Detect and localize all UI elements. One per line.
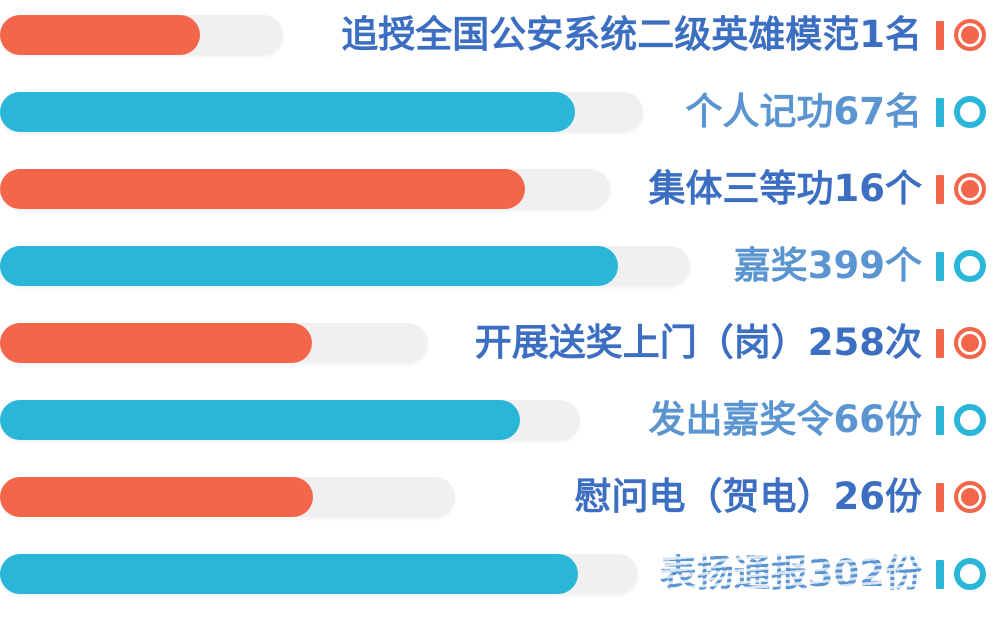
progress-row: 嘉奖399个	[0, 235, 1000, 297]
progress-fill	[0, 400, 520, 440]
progress-row: 慰问电（贺电）26份	[0, 466, 1000, 528]
progress-row: 个人记功67名	[0, 81, 1000, 143]
row-marker	[930, 400, 994, 440]
progress-fill	[0, 554, 578, 594]
hollow-ring-marker-icon	[954, 96, 986, 128]
progress-row-label: 开展送奖上门（岗）258次	[475, 312, 922, 374]
progress-fill	[0, 246, 618, 286]
vertical-bar-icon	[936, 21, 944, 50]
filled-ring-marker-icon	[954, 327, 986, 359]
progress-fill	[0, 323, 312, 363]
progress-row-label: 慰问电（贺电）26份	[575, 466, 923, 528]
progress-row: 追授全国公安系统二级英雄模范1名	[0, 4, 1000, 66]
row-marker	[930, 554, 994, 594]
vertical-bar-icon	[936, 406, 944, 435]
hollow-ring-marker-icon	[954, 250, 986, 282]
progress-fill	[0, 15, 200, 55]
hollow-ring-marker-icon	[954, 558, 986, 590]
hollow-ring-marker-icon	[954, 404, 986, 436]
progress-row: 开展送奖上门（岗）258次	[0, 312, 1000, 374]
vertical-bar-icon	[936, 252, 944, 281]
progress-fill	[0, 92, 575, 132]
progress-row-label: 表扬通报302份	[660, 543, 922, 605]
row-marker	[930, 477, 994, 517]
row-marker	[930, 246, 994, 286]
progress-fill	[0, 169, 525, 209]
filled-ring-marker-icon	[954, 481, 986, 513]
progress-row-label: 追授全国公安系统二级英雄模范1名	[341, 4, 922, 66]
progress-bar-infographic: 追授全国公安系统二级英雄模范1名个人记功67名集体三等功16个嘉奖399个开展送…	[0, 0, 1000, 624]
progress-fill	[0, 477, 313, 517]
filled-ring-marker-icon	[954, 173, 986, 205]
filled-ring-marker-icon	[954, 19, 986, 51]
progress-row: 发出嘉奖令66份	[0, 389, 1000, 451]
vertical-bar-icon	[936, 98, 944, 127]
vertical-bar-icon	[936, 560, 944, 589]
row-marker	[930, 15, 994, 55]
progress-row: 表扬通报302份	[0, 543, 1000, 605]
vertical-bar-icon	[936, 483, 944, 512]
progress-row: 集体三等功16个	[0, 158, 1000, 220]
progress-row-label: 集体三等功16个	[649, 158, 923, 220]
progress-row-label: 发出嘉奖令66份	[649, 389, 923, 451]
row-marker	[930, 92, 994, 132]
vertical-bar-icon	[936, 329, 944, 358]
vertical-bar-icon	[936, 175, 944, 204]
row-marker	[930, 169, 994, 209]
progress-row-label: 嘉奖399个	[734, 235, 922, 297]
progress-row-label: 个人记功67名	[686, 81, 923, 143]
row-marker	[930, 323, 994, 363]
